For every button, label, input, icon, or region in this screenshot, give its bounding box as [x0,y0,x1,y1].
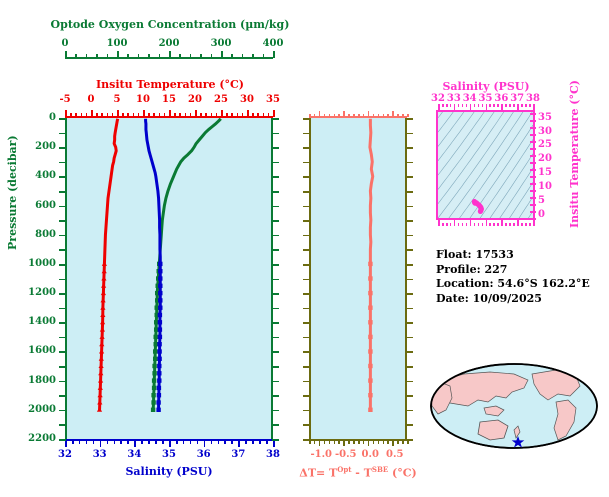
tick [122,113,124,117]
data-point-marker [158,298,162,302]
tick [406,118,413,120]
tick [272,206,279,208]
data-point-marker [153,349,157,353]
tick [252,441,254,444]
tick [530,113,536,115]
tick-label: 800 [35,229,56,240]
data-point-marker [368,320,372,324]
data-point-marker [97,400,102,405]
tick [272,264,279,266]
float-value: 17533 [475,248,513,261]
tick [59,176,66,178]
tick [107,113,109,117]
delta-t-tick-labels: -1.0-0.50.00.5 [309,449,407,463]
tick [406,133,413,135]
tick [406,206,413,208]
data-point-marker [158,313,162,317]
tick [530,127,536,129]
salinity-tick-labels: 32333435363738 [65,449,273,463]
tick [59,133,66,135]
world-map[interactable] [428,352,600,460]
tick [402,114,404,117]
tick [406,279,413,281]
tick [197,441,199,444]
tick [138,113,140,117]
tick [272,381,279,383]
tick [474,223,476,226]
tick [314,114,316,117]
data-point-marker [158,262,162,266]
tick [517,220,519,226]
data-point-marker [368,276,372,280]
ts-point [478,209,483,214]
delta-t-ticks-bottom [309,441,407,448]
tick [273,110,275,117]
data-point-marker [153,357,157,361]
tick [530,141,536,143]
tick [81,113,83,117]
date-label: Date: [436,292,469,305]
tick [164,113,166,117]
tick-label: 15 [162,94,176,105]
tick [242,54,244,58]
tick [466,104,468,107]
tick [65,51,67,58]
isopycnal-line [502,182,533,218]
tick [59,395,66,397]
tick [406,220,413,222]
tick [59,351,66,353]
location-label: Location: [436,277,494,290]
data-point-marker [368,306,372,310]
ts-diagram-plot-area[interactable] [436,110,535,220]
tick [387,114,389,117]
tick [489,223,491,226]
tick [406,337,413,339]
profile-curves [67,118,272,439]
data-point-marker [157,386,161,390]
tick [529,104,531,107]
tick [221,110,223,117]
tick [530,162,536,164]
tick [183,441,185,444]
tick [117,110,119,117]
tick-label: -0.5 [335,449,357,460]
tick-label: 25 [538,139,552,150]
tick [478,104,480,107]
tick [141,441,143,444]
tick [148,441,150,444]
salinity-axis-ticks [65,441,273,448]
data-point-marker [97,407,102,412]
tick [530,190,536,192]
tick [59,410,66,412]
metadata-location: Location: 54.6°S 162.2°E [436,277,590,292]
data-point-marker [368,335,372,339]
tick-label: 5 [538,195,545,206]
data-point-marker [368,349,372,353]
tick [513,104,515,107]
tick [406,366,413,368]
world-map-svg [428,352,600,460]
delta-t-title-sup2: SBE [372,465,388,474]
data-point-marker [158,276,162,280]
delta-t-ticks-top [309,110,407,117]
tick [303,424,310,426]
data-point-marker [151,393,155,397]
tick [387,441,389,444]
isopycnal-line [493,168,533,218]
tick [120,441,122,444]
tick [446,223,448,226]
tick [153,113,155,117]
data-point-marker [101,291,106,296]
data-point-marker [99,363,104,368]
delta-t-title-a: ΔT= T [299,467,337,480]
tick [509,104,511,107]
data-point-marker [98,371,103,376]
tick-label: 0 [49,112,56,123]
profile-label: Profile: [436,263,481,276]
data-point-marker [368,393,372,397]
tick [117,51,119,58]
tick [378,441,380,444]
tick [402,441,404,444]
ts-temperature-tick-labels: 05101520253035 [538,112,558,218]
tick [438,104,440,110]
tick [169,110,171,117]
tick [174,113,176,117]
tick-label: 2200 [28,433,56,444]
tick [442,104,444,107]
tick [309,441,311,444]
tick [446,104,448,107]
tick [406,162,413,164]
tick [272,118,279,120]
tick [450,104,452,107]
tick [324,441,326,444]
salinity-axis-title: Salinity (PSU) [65,465,273,478]
temperature-curve [97,119,118,412]
tick [530,155,536,157]
tick-label: 0.0 [362,449,379,460]
tick-label: 37 [231,449,245,460]
tick-label: -5 [59,94,70,105]
tick [224,441,226,444]
tick [272,293,279,295]
tick [530,218,536,220]
tick [392,111,394,117]
tick [59,264,66,266]
data-point-marker [151,400,155,404]
tick [245,441,247,444]
tick [303,366,310,368]
tick [72,441,74,444]
tick [505,104,507,107]
tick [525,223,527,226]
data-point-marker [102,269,107,274]
tick [70,113,72,117]
tick [272,279,279,281]
tick [482,223,484,226]
tick [406,293,413,295]
delta-t-title-sup1: Opt [337,465,351,474]
tick [406,395,413,397]
tick [75,113,77,117]
tick [263,113,265,117]
tick-label: 400 [263,38,284,49]
tick [530,148,536,150]
data-point-marker [99,356,104,361]
tick [303,337,310,339]
tick [218,441,220,444]
tick [343,111,345,117]
tick [303,279,310,281]
tick [530,169,536,171]
tick [272,424,279,426]
ts-salinity-ticks-bottom [438,220,533,226]
isopycnal-line [438,112,486,161]
tick [363,441,365,444]
tick [303,351,310,353]
metadata-float: Float: 17533 [436,248,590,263]
tick-label: 35 [162,449,176,460]
tick [530,204,536,206]
tick [397,441,399,444]
tick [478,223,480,226]
tick-label: 0.5 [386,449,403,460]
tick [200,54,202,58]
tick-label: 0 [88,94,95,105]
tick [373,441,375,444]
tick [91,110,93,117]
tick-label: 20 [188,94,202,105]
ts-temperature-axis-title: Insitu Temperature (°C) [568,80,581,228]
data-point-marker [100,312,105,317]
tick [501,220,503,226]
data-point-marker [158,269,162,273]
tick [59,162,66,164]
tick [529,223,531,226]
data-point-marker [158,327,162,331]
tick [303,220,310,222]
tick-label: 25 [214,94,228,105]
tick [127,113,129,117]
tick [59,381,66,383]
data-point-marker [154,342,158,346]
tick [530,183,536,185]
data-point-marker [157,393,161,397]
tick [334,114,336,117]
tick [221,51,223,58]
oxygen-axis-title: Optode Oxygen Concentration (µm/kg) [35,18,305,31]
isopycnal-line [438,112,474,146]
tick [343,441,345,446]
tick [101,113,103,117]
tick [303,206,310,208]
tick-label: 300 [211,38,232,49]
tick [303,264,310,266]
tick [521,104,523,107]
profile-value: 227 [484,263,507,276]
tick [303,118,310,120]
tick [59,293,66,295]
tick-label: 30 [538,126,552,137]
data-point-marker [156,408,160,412]
tick [112,113,114,117]
tick-label: 200 [35,141,56,152]
tick [533,104,535,110]
tick [348,114,350,117]
tick [185,113,187,117]
tick [148,54,150,58]
tick [216,113,218,117]
data-point-marker [158,320,162,324]
data-point-marker [368,378,372,382]
tick [59,220,66,222]
tick [353,441,355,444]
profile-plot-area[interactable] [67,118,272,439]
tick [438,220,440,226]
tick [353,114,355,117]
tick [204,441,206,447]
delta-t-ticks-left [302,118,310,439]
tick [454,104,456,110]
tick [272,220,279,222]
tick [406,235,413,237]
tick-label: 10 [136,94,150,105]
tick [272,249,279,251]
tick [190,441,192,444]
tick [530,134,536,136]
tick [159,113,161,117]
data-point-marker [100,320,105,325]
delta-t-title-c: (°C) [388,467,417,480]
tick [272,147,279,149]
tick [406,424,413,426]
tick [231,113,233,117]
tick [383,114,385,117]
tick [314,441,316,444]
tick [86,54,88,58]
data-point-marker [157,378,161,382]
tick [521,223,523,226]
data-point-marker [99,349,104,354]
data-point-marker [157,342,161,346]
tick [358,114,360,117]
tick [79,441,81,444]
tick [257,113,259,117]
tick [303,322,310,324]
tick [273,441,275,447]
tick [190,113,192,117]
data-point-marker [158,306,162,310]
tick [211,54,213,58]
tick [272,133,279,135]
tick [303,235,310,237]
tick [138,54,140,58]
pressure-axis-ticks-left [58,118,66,439]
tick [303,410,310,412]
tick [303,133,310,135]
tick [211,441,213,444]
tick [406,351,413,353]
data-point-marker [368,262,372,266]
tick [383,441,385,444]
tick [501,104,503,110]
tick [133,113,135,117]
temperature-axis-ticks [65,110,273,117]
tick [143,110,145,117]
tick-label: 33 [93,449,107,460]
data-point-marker [100,305,105,310]
tick [406,381,413,383]
tick [179,113,181,117]
tick-label: 1800 [28,375,56,386]
tick [272,191,279,193]
tick [470,220,472,226]
tick [407,114,409,117]
tick [96,113,98,117]
tick [252,113,254,117]
tick-label: 10 [538,181,552,192]
tick [107,441,109,444]
tick [59,191,66,193]
tick [497,223,499,226]
tick [127,441,129,444]
tick [406,176,413,178]
tick [406,410,413,412]
tick [59,279,66,281]
tick [329,441,331,444]
tick [86,113,88,117]
tick [303,147,310,149]
tick [406,191,413,193]
tick [530,120,536,122]
tick [474,104,476,107]
tick [450,223,452,226]
data-point-marker [98,378,103,383]
tick [273,51,275,58]
data-point-marker [99,342,104,347]
tick [75,54,77,58]
tick [259,441,261,444]
tick-label: 36 [494,93,508,104]
tick [59,322,66,324]
data-point-marker [152,386,156,390]
tick [65,110,67,117]
tick [252,54,254,58]
data-point-marker [101,276,106,281]
tick [200,113,202,117]
isopycnal-contours [438,112,533,218]
temperature-axis-title: Insitu Temperature (°C) [55,78,285,91]
tick-label: 32 [431,93,445,104]
tick [195,110,197,117]
isopycnal-line [438,112,514,204]
tick [162,441,164,444]
tick [378,114,380,117]
tick [303,249,310,251]
tick [93,441,95,444]
data-point-marker [151,408,155,412]
tick [397,114,399,117]
tick [406,322,413,324]
tick [159,54,161,58]
delta-t-plot-area[interactable] [311,118,406,439]
ts-diagram-svg [438,112,533,218]
tick [530,197,536,199]
